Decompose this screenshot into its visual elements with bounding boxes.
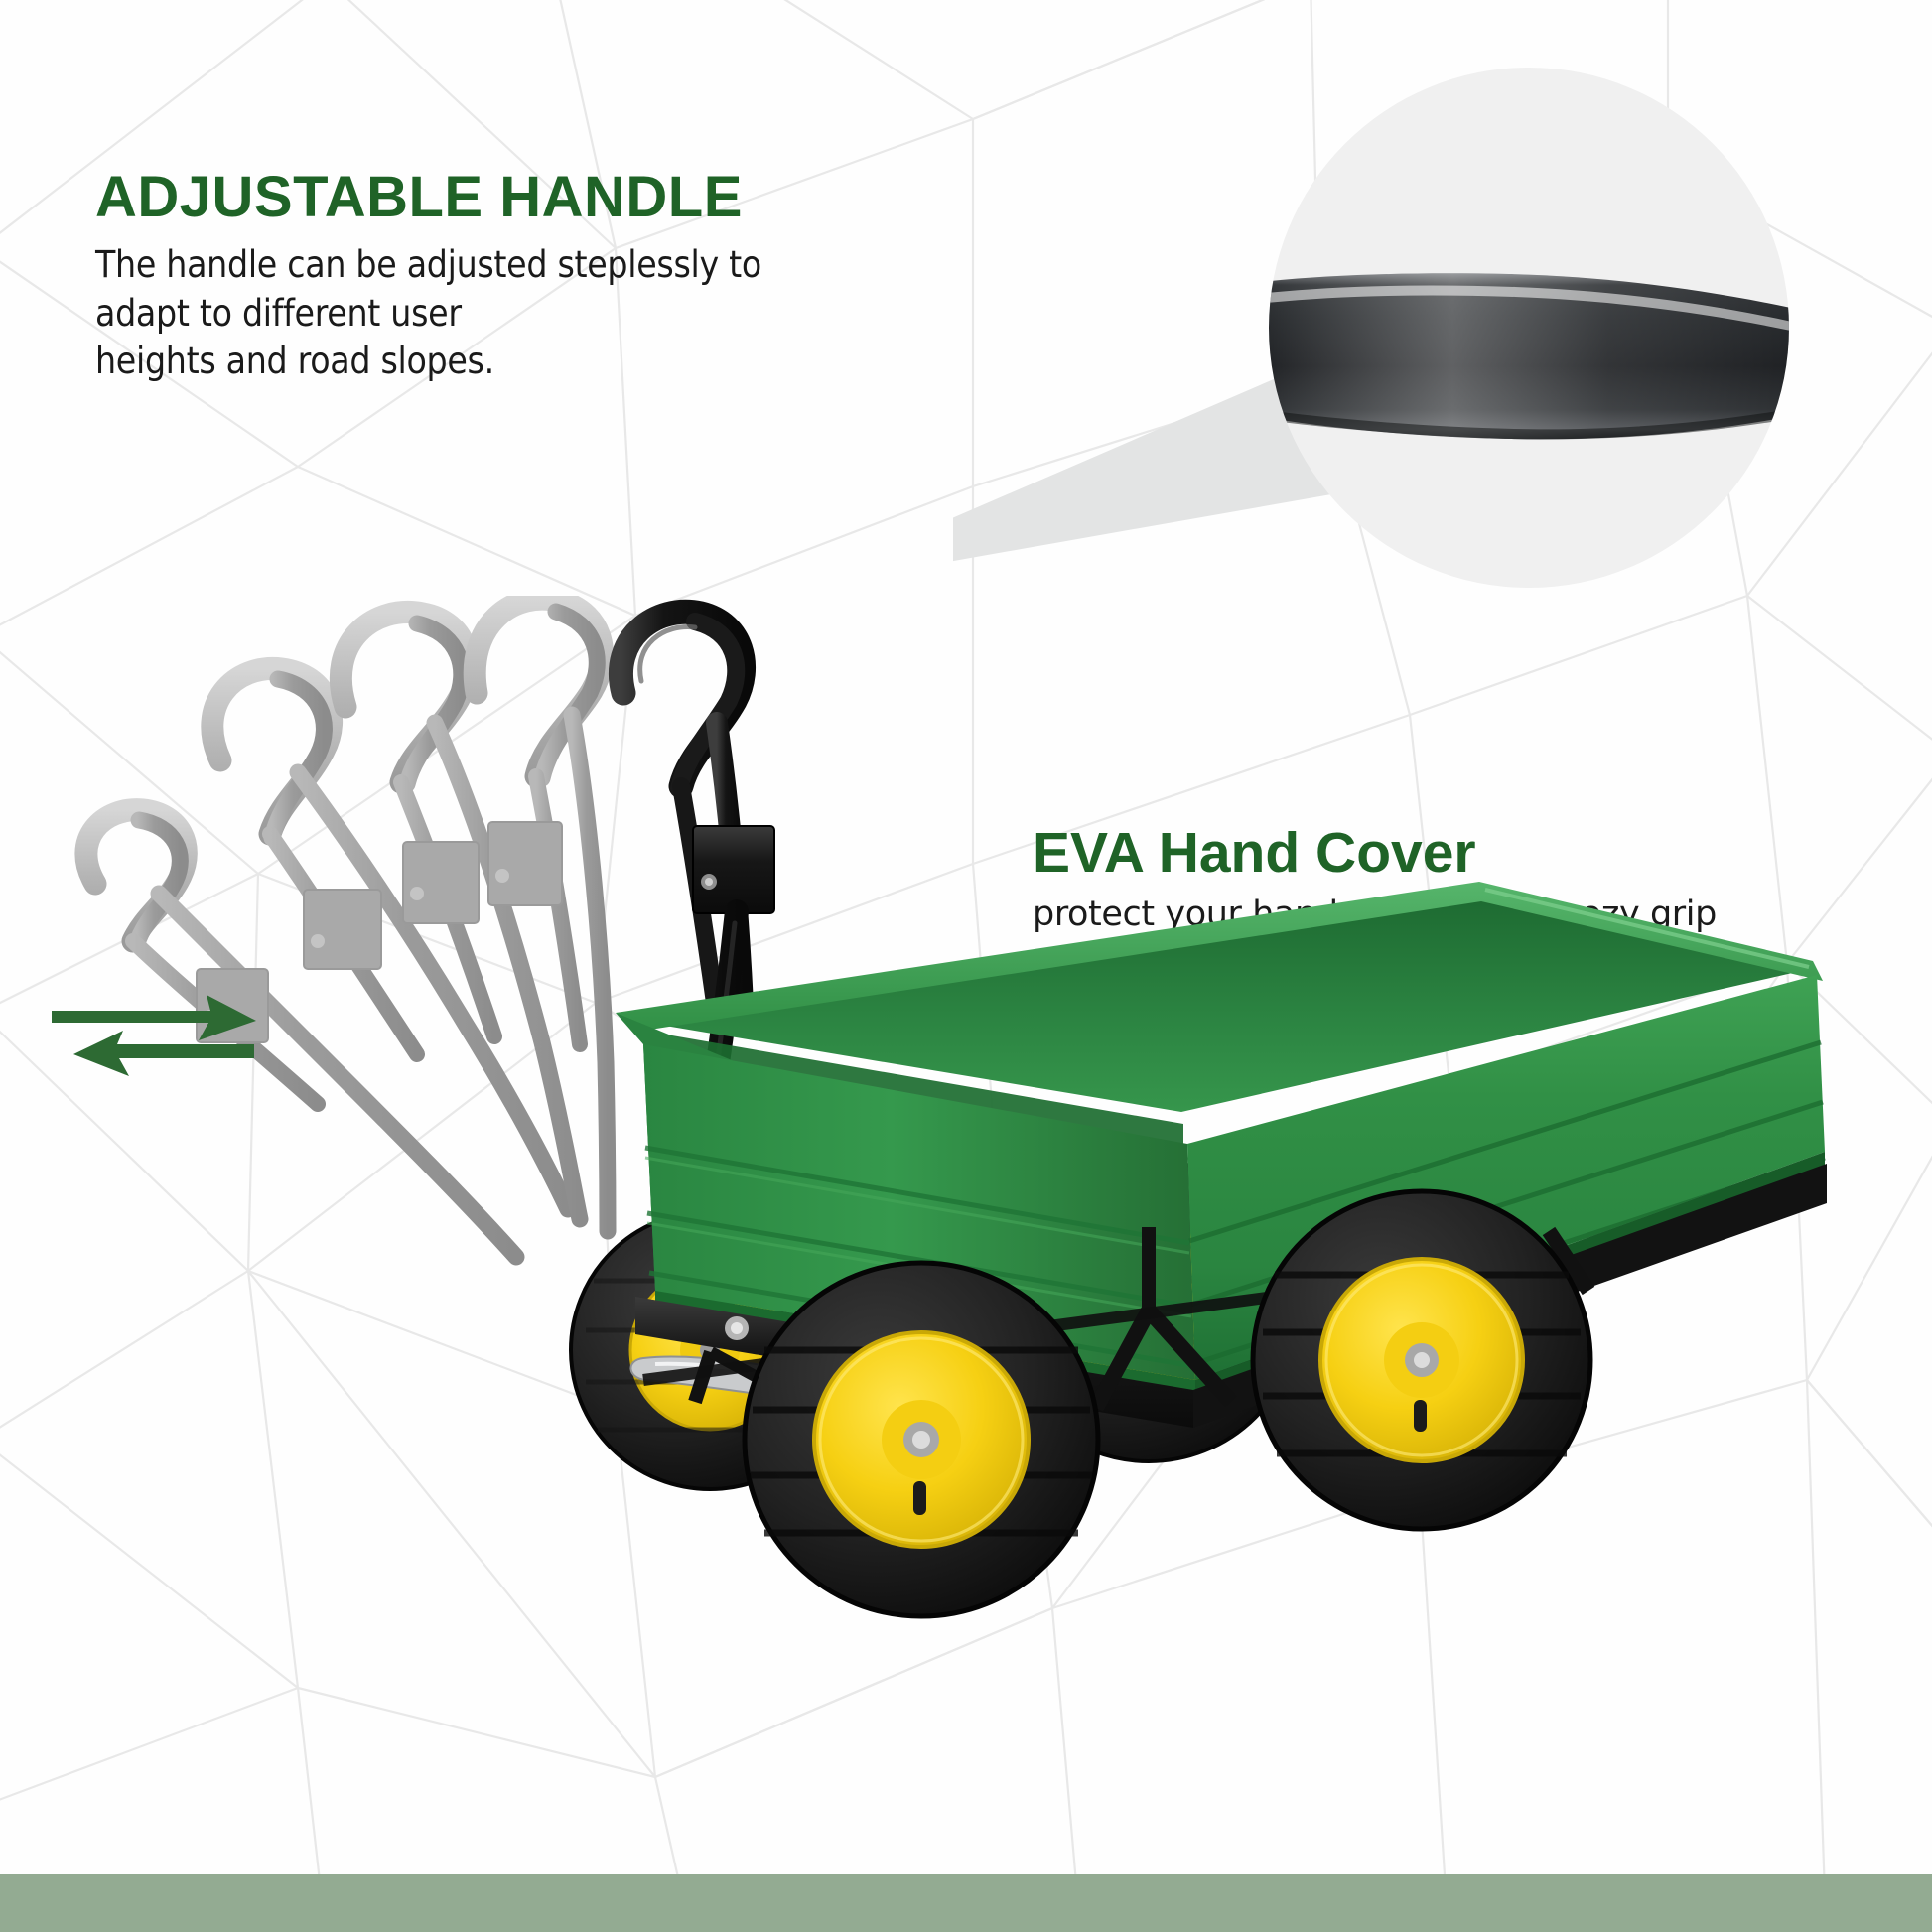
valve-stem-rear xyxy=(1414,1400,1427,1432)
ghost-handle-group xyxy=(86,599,608,1257)
description-line-1: The handle can be adjusted steplessly to xyxy=(95,241,870,289)
description-line-3: heights and road slopes. xyxy=(95,338,870,385)
ghost-bracket-4 xyxy=(488,822,562,905)
wheel-rear-near xyxy=(1253,1191,1590,1529)
description-line-2: adapt to different user xyxy=(95,290,870,338)
eva-grip-magnified xyxy=(1251,273,1827,439)
valve-stem-front xyxy=(913,1481,926,1515)
adjustable-handle-description: The handle can be adjusted steplessly to… xyxy=(95,241,870,384)
footer-band xyxy=(0,1874,1932,1932)
wheel-front-near xyxy=(745,1263,1098,1616)
ghost-bracket-3 xyxy=(403,842,479,923)
eva-grip-callout xyxy=(953,40,1906,655)
adjustable-handle-text-block: ADJUSTABLE HANDLE The handle can be adju… xyxy=(95,167,870,385)
ghost-bracket-2 xyxy=(304,890,381,969)
garden-dump-cart-illustration xyxy=(0,596,1932,1932)
product-feature-graphic: ADJUSTABLE HANDLE The handle can be adju… xyxy=(0,0,1932,1932)
ghost-handle-4 xyxy=(475,599,608,1231)
page-title: ADJUSTABLE HANDLE xyxy=(95,167,870,227)
